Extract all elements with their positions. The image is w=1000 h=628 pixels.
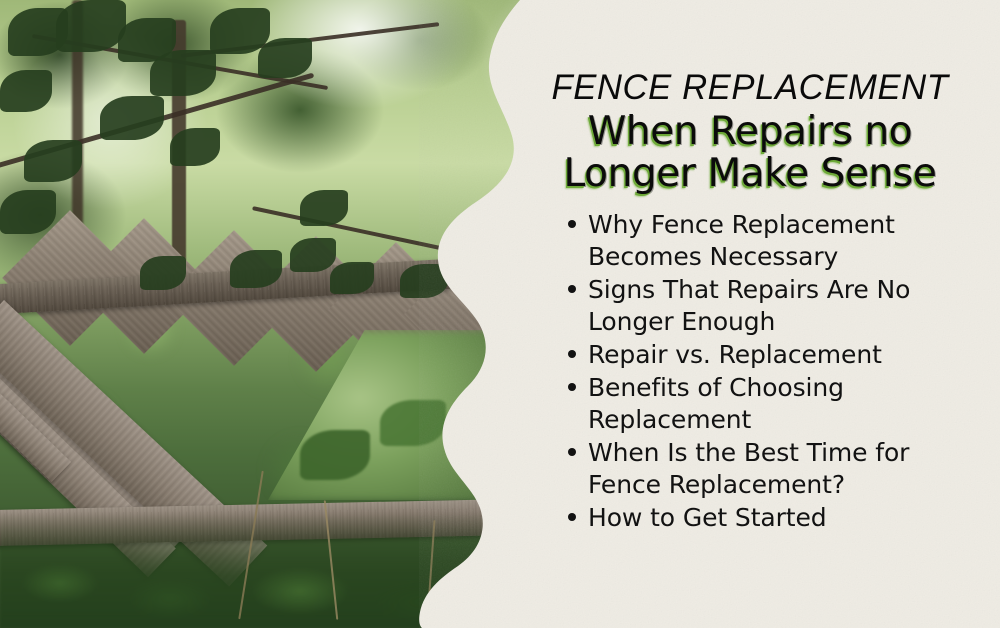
list-item: Benefits of Choosing Replacement xyxy=(540,372,960,436)
leaf-cluster xyxy=(380,400,446,446)
list-item-label: Signs That Repairs Are No Longer Enough xyxy=(588,275,910,336)
bullet-icon xyxy=(568,285,576,293)
leaf-cluster xyxy=(56,0,126,52)
headline-line-1: When Repairs no xyxy=(540,111,960,153)
leaf-cluster xyxy=(150,50,216,96)
leaf-cluster xyxy=(290,238,336,272)
eyebrow-title: FENCE REPLACEMENT xyxy=(542,70,958,107)
list-item-label: Benefits of Choosing Replacement xyxy=(588,373,844,434)
list-item: How to Get Started xyxy=(540,502,960,534)
leaf-cluster xyxy=(0,70,52,112)
leaf-cluster xyxy=(24,140,82,182)
list-item-label: Repair vs. Replacement xyxy=(588,340,882,369)
bullet-icon xyxy=(568,350,576,358)
list-item: Repair vs. Replacement xyxy=(540,339,960,371)
panel-content: FENCE REPLACEMENT When Repairs no Longer… xyxy=(540,70,960,535)
leaf-cluster xyxy=(100,96,164,140)
list-item: Signs That Repairs Are No Longer Enough xyxy=(540,274,960,338)
list-item-label: When Is the Best Time for Fence Replacem… xyxy=(588,438,909,499)
list-item-label: Why Fence Replacement Becomes Necessary xyxy=(588,210,895,271)
leaf-cluster xyxy=(230,250,282,288)
headline-line-2: Longer Make Sense xyxy=(540,153,960,195)
bullet-icon xyxy=(568,383,576,391)
topic-list: Why Fence Replacement Becomes Necessary … xyxy=(540,209,960,534)
leaf-cluster xyxy=(300,190,348,226)
bullet-icon xyxy=(568,220,576,228)
bullet-icon xyxy=(568,513,576,521)
list-item: Why Fence Replacement Becomes Necessary xyxy=(540,209,960,273)
leaf-cluster xyxy=(330,262,374,294)
headline: When Repairs no Longer Make Sense xyxy=(540,111,960,195)
leaf-cluster xyxy=(170,128,220,166)
leaf-cluster xyxy=(140,256,186,290)
leaf-cluster xyxy=(300,430,370,480)
list-item: When Is the Best Time for Fence Replacem… xyxy=(540,437,960,501)
title-card-graphic: FENCE REPLACEMENT When Repairs no Longer… xyxy=(0,0,1000,628)
leaf-cluster xyxy=(400,264,448,298)
leaf-cluster xyxy=(258,38,312,78)
list-item-label: How to Get Started xyxy=(588,503,827,532)
leaf-cluster xyxy=(0,190,56,234)
bullet-icon xyxy=(568,448,576,456)
